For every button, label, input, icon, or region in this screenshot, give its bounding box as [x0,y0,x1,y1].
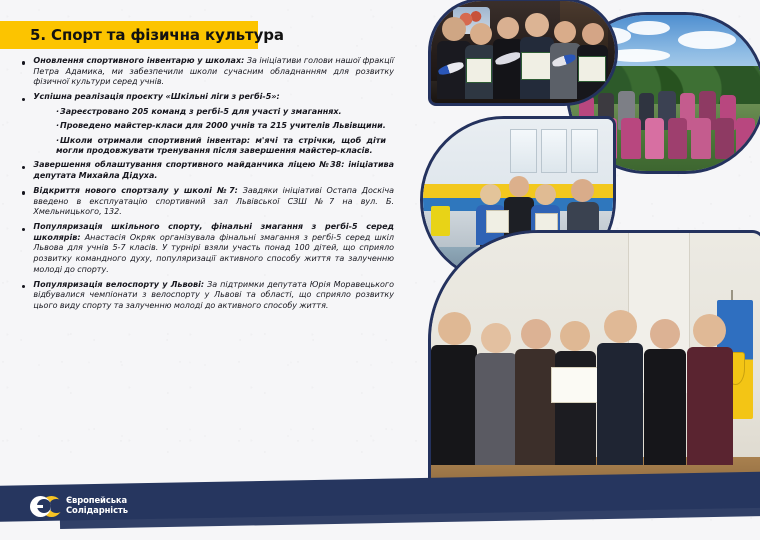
equipment-box [431,206,450,235]
bullet-text: Популяризація шкільного спорту, фінальні… [33,222,394,275]
player-figure [668,118,687,159]
diploma [486,210,509,233]
page-title: 5. Спорт та фізична культура [30,28,284,43]
bullet-dot-icon [22,191,25,194]
player-figure [715,118,734,159]
bullet-text: Завершення облаштування спортивного майд… [33,160,394,181]
bullet-dot-icon [22,285,25,288]
person-figure [650,319,680,465]
cloud [678,31,736,50]
logo-letter-ye [30,496,51,517]
bullet-lead: Відкриття нового спортзалу у школі №7: [33,186,237,195]
photo-collage [420,0,760,502]
bullet-lead: Оновлення спортивного інвентарю у школах… [33,56,244,65]
list-item: Оновлення спортивного інвентарю у школах… [22,56,394,88]
brand-wordmark: Європейська Солідарність [66,496,128,515]
content-body: Оновлення спортивного інвентарю у школах… [22,56,394,316]
sub-list-item: Школи отримали спортивний інвентар: м'яч… [56,136,386,157]
player-figure [645,118,664,159]
list-item: Відкриття нового спортзалу у школі №7: З… [22,186,394,218]
bottom-strip [0,526,760,540]
awards-ceremony-photo [428,0,618,106]
bullet-dot-icon [22,166,25,169]
section-title-bar: 5. Спорт та фізична культура [0,21,258,49]
list-item: Популяризація шкільного спорту, фінальні… [22,222,394,275]
bullet-dot-icon [22,228,25,231]
person-figure [442,17,466,99]
bullet-text: Популяризація велоспорту у Львові: За пі… [33,280,394,312]
bullet-lead: Популяризація велоспорту у Львові: [33,280,204,289]
european-solidarity-logo-icon [30,496,62,517]
slide-canvas: 5. Спорт та фізична культура Оновлення с… [0,0,760,540]
list-item: Завершення облаштування спортивного майд… [22,160,394,181]
bullet-text: Успішна реалізація проєкту «Шкільні ліги… [33,92,394,103]
list-item: Популяризація велоспорту у Львові: За пі… [22,280,394,312]
player-figure [621,118,640,159]
bullet-lead: Завершення облаштування спортивного майд… [33,160,344,169]
person-figure [604,310,637,465]
officials-group-photo [428,230,760,494]
bullet-dot-icon [22,61,25,64]
person-figure [438,312,471,465]
window [510,129,537,173]
bullet-text: Відкриття нового спортзалу у школі №7: З… [33,186,394,218]
window [541,129,568,173]
certificate [466,58,492,82]
certificate [521,52,551,80]
brand-logo: Європейська Солідарність [30,494,128,518]
person-figure [521,319,551,465]
window [571,129,598,173]
list-item: Успішна реалізація проєкту «Шкільні ліги… [22,92,394,103]
sub-list-item: Зареєстровано 205 команд з регбі-5 для у… [56,107,386,118]
brand-line-2: Солідарність [66,506,128,516]
bullet-dot-icon [22,98,25,101]
cyclist-figure [509,176,530,239]
player-figure [736,118,755,159]
player-figure [691,118,710,159]
sub-list-item: Проведено майстер-класи для 2000 учнів т… [56,121,386,132]
person-figure [481,323,511,465]
bullet-rest: Анастасія Окряк організувала фінальні зм… [33,233,394,274]
bullet-lead: Успішна реалізація проєкту «Шкільні ліги… [33,92,279,101]
person-figure [693,314,726,465]
bullet-text: Оновлення спортивного інвентарю у школах… [33,56,394,88]
certificate [578,56,606,81]
